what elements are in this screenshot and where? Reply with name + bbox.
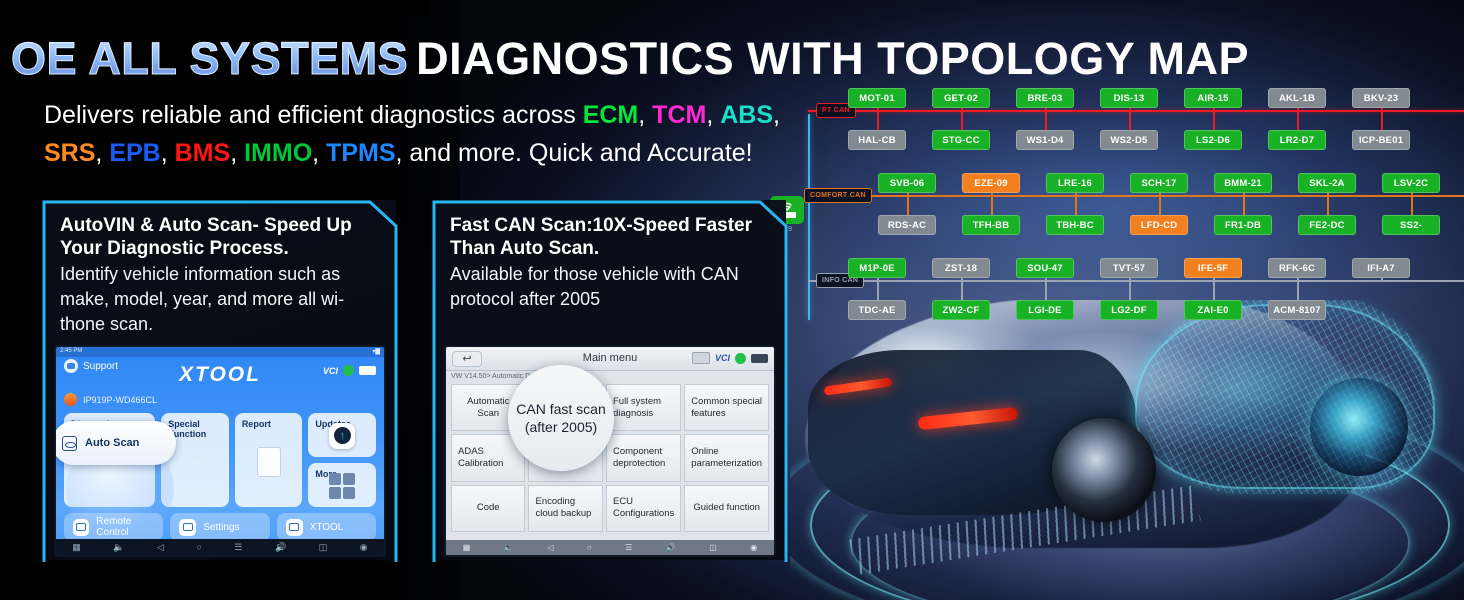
node-connector [1045, 280, 1047, 300]
topology-node[interactable]: MOT-01 [848, 88, 906, 108]
remote-control-button[interactable]: Remote Control [64, 513, 163, 541]
tile-special-function-label: Special Function [168, 419, 229, 439]
home-icon[interactable]: ○ [587, 543, 592, 552]
tablet-main-menu-screen[interactable]: ↩ Main menu VCI VW V14.50> Automatic Det… [444, 345, 776, 557]
subheadline-tail: , and more. Quick and Accurate! [396, 139, 753, 167]
topology-node[interactable]: SVB-06 [878, 173, 936, 193]
menu-cell-label: ECU Configurations [607, 496, 680, 520]
vci-label: VCI [323, 366, 338, 376]
feature-card-fastcan-title: Fast CAN Scan:10X-Speed Faster Than Auto… [450, 214, 776, 260]
auto-scan-label: Auto Scan [85, 437, 139, 449]
topology-node[interactable]: EZE-09 [962, 173, 1020, 193]
status-right-icons: ▾▇ [372, 348, 380, 355]
topology-node[interactable]: WS2-D5 [1100, 130, 1158, 150]
front-wheel [1310, 378, 1408, 476]
topology-map: DCM-19 PT CANMOT-01GET-02BRE-03DIS-13AIR… [790, 78, 1464, 338]
acronym-ecm: ECM [583, 101, 639, 129]
node-connector [1327, 195, 1329, 215]
node-connector [1411, 195, 1413, 215]
node-connector [961, 280, 963, 300]
xtool-icon [286, 519, 303, 536]
remote-control-label: Remote Control [96, 516, 163, 538]
feature-card-autovin-title: AutoVIN & Auto Scan- Speed Up Your Diagn… [60, 214, 386, 260]
tablet-bottom-buttons: Remote Control Settings XTOOL [64, 513, 376, 541]
menu-cell-label: ADAS Calibration [452, 446, 524, 470]
bus-label-comfort-can: COMFORT CAN [804, 188, 872, 203]
topology-node[interactable]: LSV-2C [1382, 173, 1440, 193]
volume-down-icon[interactable]: 🔈 [113, 542, 124, 553]
menu-cell-label: Full system diagnosis [607, 396, 680, 420]
apps-icon[interactable]: ◫ [709, 543, 717, 552]
menu-cell[interactable]: Full system diagnosis [606, 384, 681, 431]
bus-line-info-can [808, 280, 1464, 282]
topology-node[interactable]: AIR-15 [1184, 88, 1242, 108]
node-connector [1129, 110, 1131, 130]
menu-cell-label: Guided function [685, 502, 768, 514]
tablet-status-bar: 2:45 PM ▾▇ [56, 347, 384, 357]
tile-report[interactable]: Report [235, 413, 303, 507]
topology-node[interactable]: ZST-18 [932, 258, 990, 278]
menu-cell-label: Encoding cloud backup [529, 496, 602, 520]
volume-down-icon[interactable]: 🔈 [504, 543, 514, 552]
battery-icon [359, 366, 376, 375]
avatar [64, 393, 77, 406]
tablet-status-icons: VCI [323, 365, 376, 376]
display-icon[interactable]: ◉ [360, 542, 368, 553]
topology-node[interactable]: IFE-5F [1184, 258, 1242, 278]
menu-cell-label: Common special features [685, 396, 768, 420]
topology-node[interactable]: TVT-57 [1100, 258, 1158, 278]
screenshot-icon[interactable]: ▦ [463, 543, 471, 552]
page-title: OE ALL SYSTEMS DIAGNOSTICS WITH TOPOLOGY… [0, 28, 1260, 90]
volume-up-icon[interactable]: 🔊 [666, 543, 676, 552]
android-navbar[interactable]: ▦ 🔈 ◁ ○ ☰ 🔊 ◫ ◉ [446, 540, 774, 555]
network-icon [343, 365, 354, 376]
topology-node[interactable]: ICP-BE01 [1352, 130, 1410, 150]
menu-cell-label: Component deprotection [607, 446, 680, 470]
topology-node[interactable]: SOU-47 [1016, 258, 1074, 278]
xtool-label: XTOOL [310, 522, 344, 533]
topology-node[interactable]: RFK-6C [1268, 258, 1326, 278]
topology-node[interactable]: STG-CC [932, 130, 990, 150]
remote-icon [73, 519, 89, 536]
volume-up-icon[interactable]: 🔊 [275, 542, 286, 553]
node-connector [1297, 280, 1299, 300]
magnifier-text: CAN fast scan (after 2005) [508, 400, 614, 436]
topology-node[interactable]: BRE-03 [1016, 88, 1074, 108]
topology-node[interactable]: TBH-BC [1046, 215, 1104, 235]
tile-more[interactable]: More [308, 463, 376, 507]
node-connector [1297, 110, 1299, 130]
gear-icon [179, 519, 196, 536]
menu-cell-label: Online parameterization [685, 446, 768, 470]
battery-icon [751, 354, 768, 363]
topology-node[interactable]: IFI-A7 [1352, 258, 1410, 278]
wireframe-car-illustration [790, 300, 1464, 600]
menu-cell[interactable]: Component deprotection [606, 434, 681, 481]
topology-node[interactable]: GET-02 [932, 88, 990, 108]
tile-report-label: Report [242, 419, 271, 429]
menu-cell[interactable]: ECU Configurations [606, 485, 681, 532]
node-connector [1381, 110, 1383, 130]
main-menu-header: ↩ Main menu VCI [446, 347, 774, 371]
device-id-row: IP919P-WD466CL [64, 393, 157, 406]
tile-column-right: Updates ↑ More [308, 413, 376, 507]
acronym-tpms: TPMS [326, 139, 395, 167]
acronym-epb: EPB [109, 139, 160, 167]
android-navbar[interactable]: ▦ 🔈 ◁ ○ ☰ 🔊 ◫ ◉ [56, 539, 384, 555]
node-connector [1075, 195, 1077, 215]
xtool-button[interactable]: XTOOL [277, 513, 376, 541]
acronym-abs: ABS [720, 101, 773, 129]
topology-node[interactable]: SS2- [1382, 215, 1440, 235]
node-connector [877, 280, 879, 300]
screenshot-icon[interactable]: ▦ [72, 542, 81, 553]
topology-node[interactable]: LRE-16 [1046, 173, 1104, 193]
bus-line-pt-can [808, 110, 1464, 112]
magnifier-callout: CAN fast scan (after 2005) [508, 365, 614, 471]
scan-icon [62, 436, 77, 451]
acronym-srs: SRS [44, 139, 95, 167]
topology-node[interactable]: FE2-DC [1298, 215, 1356, 235]
topology-node[interactable]: RDS-AC [878, 215, 936, 235]
headline-rest: DIAGNOSTICS WITH TOPOLOGY MAP [408, 33, 1249, 85]
tablet-home-screen[interactable]: 2:45 PM ▾▇ Support XTOOL VCI IP919P-WD46… [54, 345, 386, 557]
topology-node[interactable]: LGI-DE [1016, 300, 1074, 320]
menu-cell[interactable]: Encoding cloud backup [528, 485, 603, 532]
topology-node[interactable]: AKL-1B [1268, 88, 1326, 108]
topology-node[interactable]: SKL-2A [1298, 173, 1356, 193]
acronym-immo: IMMO [244, 139, 312, 167]
menu-cell[interactable]: Guided function [684, 485, 769, 532]
topology-node[interactable]: LG2-DF [1100, 300, 1158, 320]
menu-cell[interactable]: Online parameterization [684, 434, 769, 481]
node-connector [1243, 195, 1245, 215]
node-connector [961, 110, 963, 130]
rear-wheel [1052, 418, 1156, 522]
grid-icon [329, 473, 355, 499]
node-connector [1129, 280, 1131, 300]
topology-node[interactable]: DIS-13 [1100, 88, 1158, 108]
display-icon[interactable]: ◉ [750, 543, 757, 552]
feature-card-autovin-body: Identify vehicle information such as mak… [60, 262, 386, 337]
topology-node[interactable]: TDC-AE [848, 300, 906, 320]
topology-node[interactable]: LFD-CD [1130, 215, 1188, 235]
arrow-up-circle-icon: ↑ [329, 423, 355, 449]
back-icon[interactable]: ◁ [547, 543, 553, 552]
device-id: IP919P-WD466CL [83, 395, 157, 405]
feature-card-fastcan-body: Available for those vehicle with CAN pro… [450, 262, 776, 312]
apps-icon[interactable]: ◫ [319, 542, 328, 553]
topology-node[interactable]: ZAI-E0 [1184, 300, 1242, 320]
topology-node[interactable]: ACM-8107 [1268, 300, 1326, 320]
promo-banner: DCM-19 PT CANMOT-01GET-02BRE-03DIS-13AIR… [0, 0, 1464, 600]
keyboard-icon[interactable] [692, 352, 710, 364]
document-icon [257, 447, 281, 477]
network-icon [735, 353, 746, 364]
topology-node[interactable]: M1P-0E [848, 258, 906, 278]
topology-node[interactable]: ZW2-CF [932, 300, 990, 320]
auto-scan-button[interactable]: Auto Scan [54, 421, 176, 465]
menu-cell-label: Code [452, 502, 524, 514]
acronym-tcm: TCM [652, 101, 706, 129]
node-connector [1159, 195, 1161, 215]
headline-highlight: OE ALL SYSTEMS [11, 33, 408, 85]
subheadline-lead: Delivers reliable and efficient diagnost… [44, 101, 583, 129]
node-connector [1213, 110, 1215, 130]
node-connector [991, 195, 993, 215]
topology-node[interactable]: BKV-23 [1352, 88, 1410, 108]
node-connector [1045, 110, 1047, 130]
back-icon[interactable]: ◁ [157, 542, 164, 553]
home-icon[interactable]: ○ [196, 542, 201, 552]
node-connector [1381, 278, 1383, 280]
recents-icon[interactable]: ☰ [234, 542, 242, 553]
status-time: 2:45 PM [60, 348, 82, 354]
recents-icon[interactable]: ☰ [625, 543, 632, 552]
tile-updates[interactable]: Updates ↑ [308, 413, 376, 457]
menu-cell[interactable]: Common special features [684, 384, 769, 431]
topology-node[interactable]: BMM-21 [1214, 173, 1272, 193]
menu-cell[interactable]: Code [451, 485, 525, 532]
node-connector [1213, 280, 1215, 300]
topology-node[interactable]: TFH-BB [962, 215, 1020, 235]
main-menu-status-icons: VCI [692, 352, 768, 364]
topology-node[interactable]: SCH-17 [1130, 173, 1188, 193]
topology-node[interactable]: LS2-D6 [1184, 130, 1242, 150]
topology-node[interactable]: FR1-DB [1214, 215, 1272, 235]
topology-node[interactable]: HAL-CB [848, 130, 906, 150]
acronym-bms: BMS [175, 139, 231, 167]
topology-node[interactable]: LR2-D7 [1268, 130, 1326, 150]
topology-node[interactable]: WS1-D4 [1016, 130, 1074, 150]
settings-label: Settings [203, 522, 239, 533]
settings-button[interactable]: Settings [170, 513, 269, 541]
vci-label: VCI [715, 353, 730, 363]
node-connector [877, 110, 879, 130]
node-connector [907, 195, 909, 215]
subheadline: Delivers reliable and efficient diagnost… [44, 98, 844, 170]
